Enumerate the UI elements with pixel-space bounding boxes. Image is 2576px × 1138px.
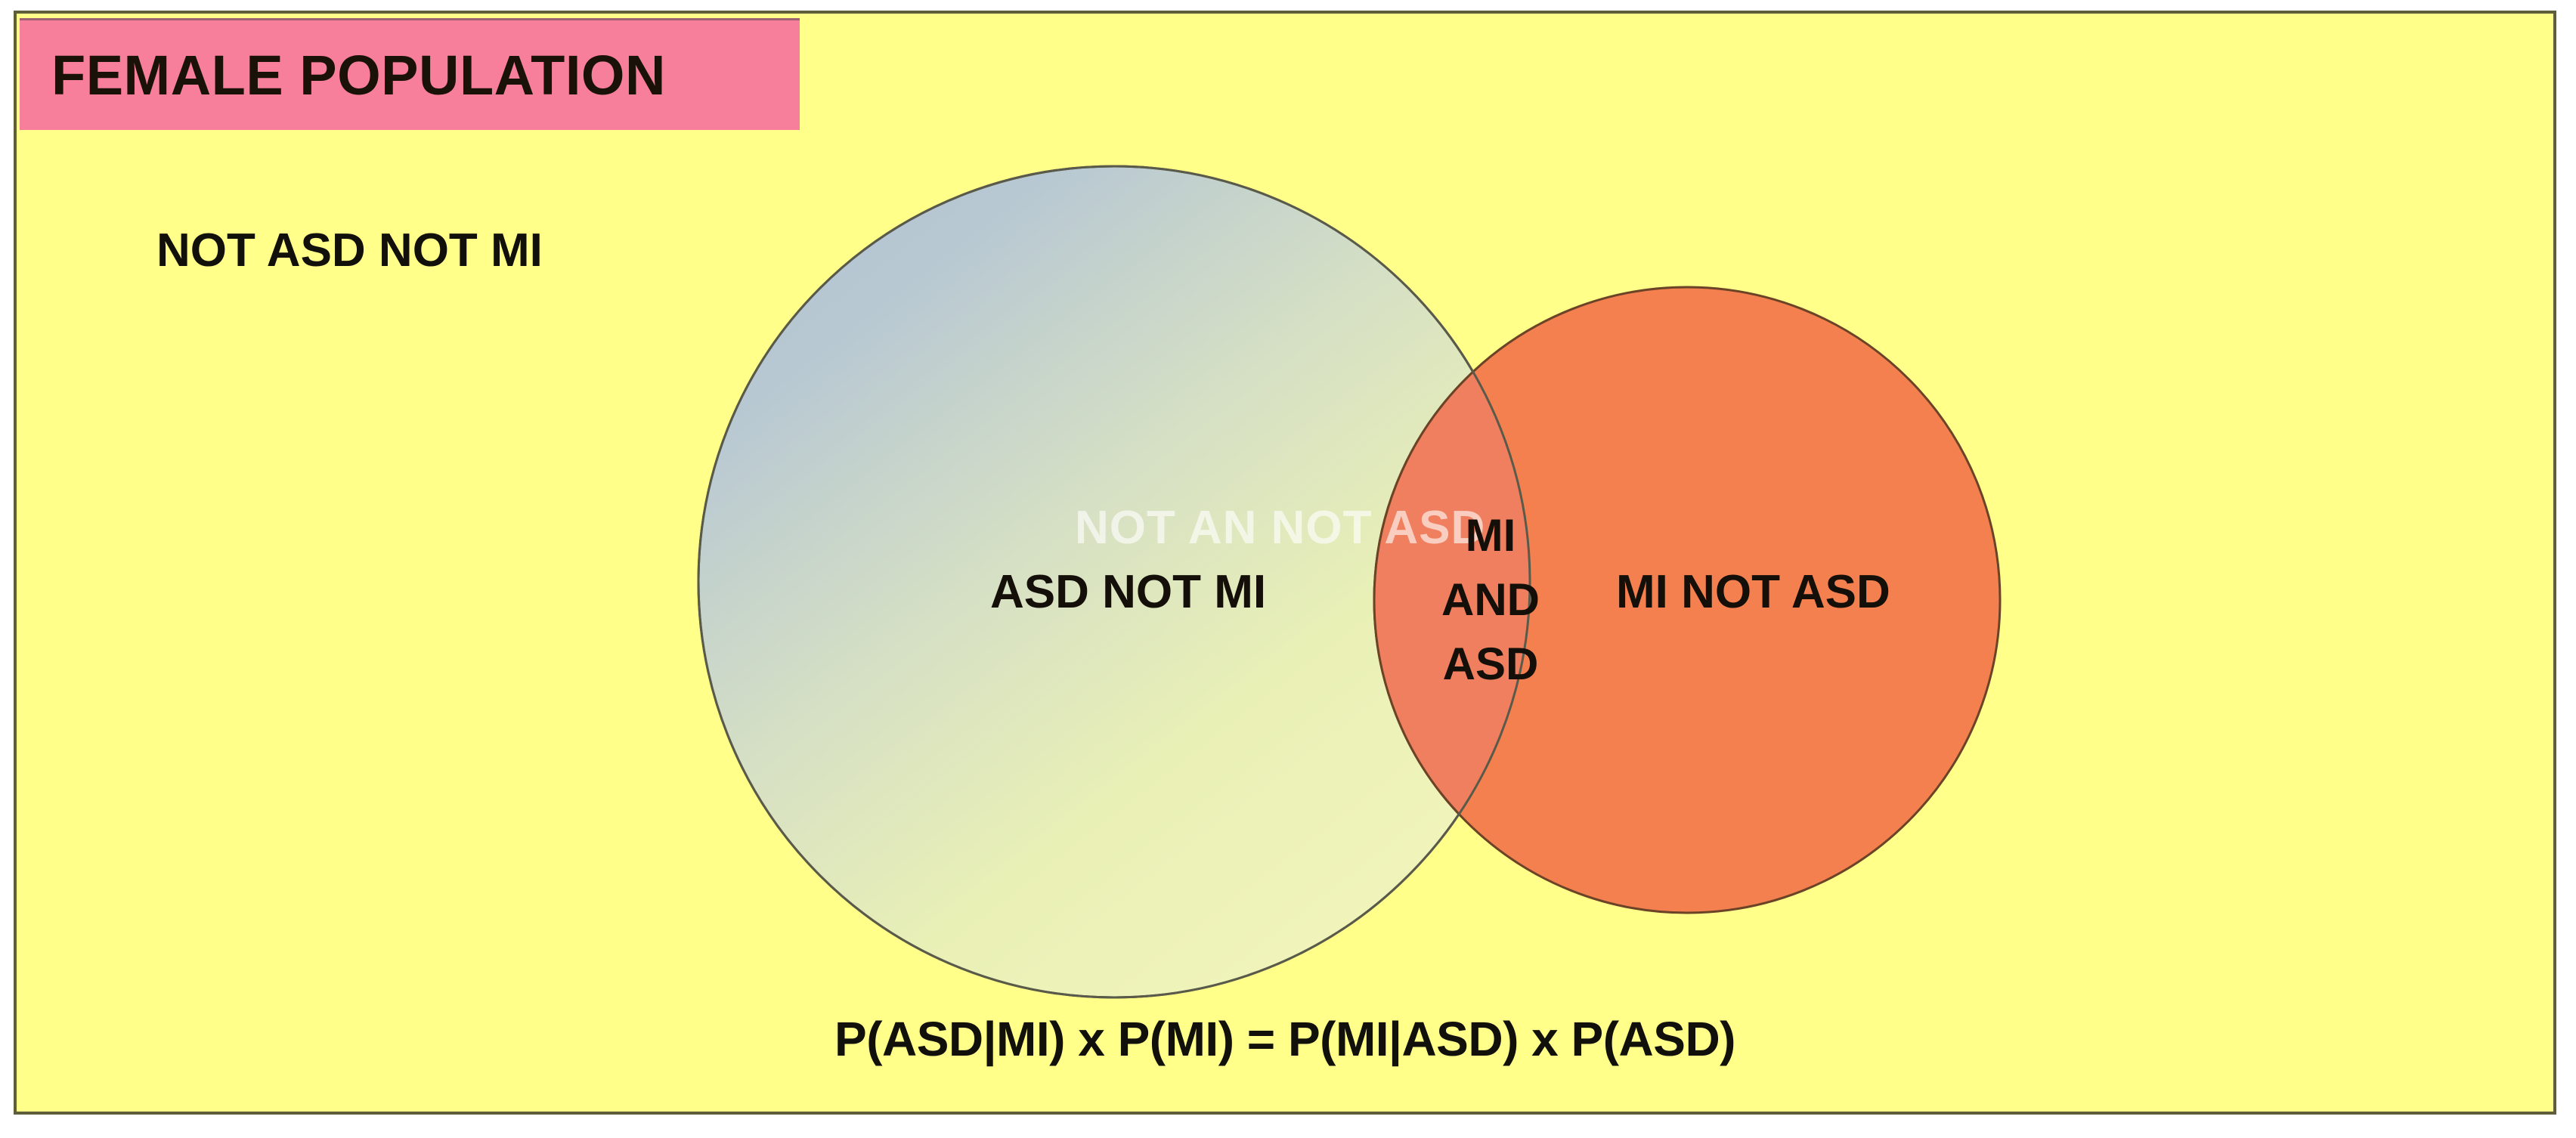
region-label-not-asd-not-mi: NOT ASD NOT MI xyxy=(156,224,543,277)
diagram-panel: FEMALE POPULATION NOT ASD NOT MI xyxy=(14,11,2556,1115)
bayes-formula: P(ASD|MI) x P(MI) = P(MI|ASD) x P(ASD) xyxy=(17,1011,2553,1067)
slide-root: FEMALE POPULATION NOT ASD NOT MI xyxy=(0,0,2576,1138)
region-label-asd-not-mi: ASD NOT MI xyxy=(990,565,1266,619)
venn-diagram xyxy=(17,14,2553,1112)
region-label-mi-not-asd: MI NOT ASD xyxy=(1616,565,1890,619)
region-label-mi-and-asd: MI AND ASD xyxy=(1407,503,1574,697)
title-banner: FEMALE POPULATION xyxy=(20,18,800,130)
region-label-mi-and-asd-line-1: MI xyxy=(1407,503,1574,567)
region-label-mi-and-asd-line-2: AND xyxy=(1407,567,1574,632)
region-label-mi-and-asd-line-3: ASD xyxy=(1407,632,1574,696)
page-title: FEMALE POPULATION xyxy=(51,43,666,107)
